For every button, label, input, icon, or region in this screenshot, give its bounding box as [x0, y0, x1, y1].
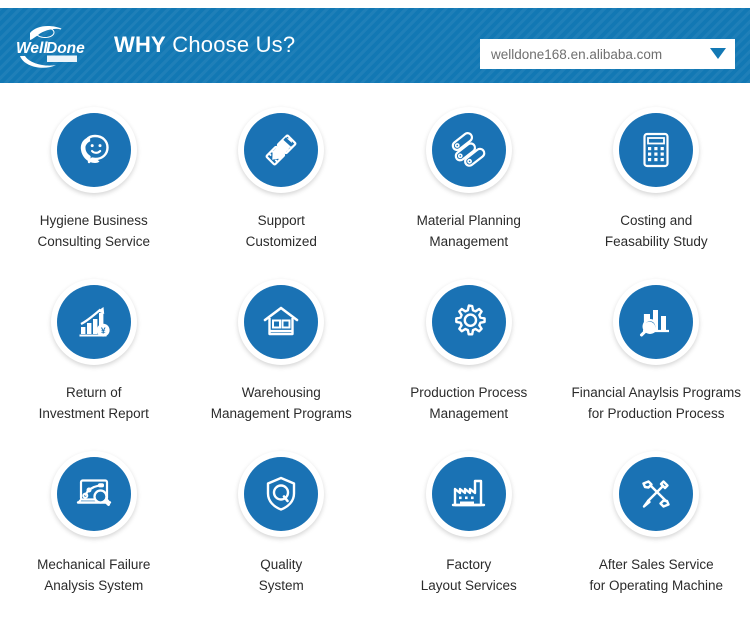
service-card-label-line2: for Operating Machine: [589, 575, 723, 596]
service-card-label: Quality System: [259, 554, 304, 596]
service-card-mechanical-failure-analysis-system[interactable]: Mechanical Failure Analysis System: [0, 435, 188, 607]
service-card-label-line1: Hygiene Business: [40, 213, 148, 228]
service-card-label: Production Process Management: [410, 382, 527, 424]
laptop-robotarm-magnifier-icon: [57, 457, 131, 531]
service-card-factory-layout-services[interactable]: Factory Layout Services: [375, 435, 563, 607]
service-card-financial-anaylsis-programs[interactable]: Financial Anaylsis Programs for Producti…: [563, 263, 750, 435]
services-grid: Hygiene Business Consulting Service: [0, 91, 750, 607]
factory-icon: [432, 457, 506, 531]
chart-magnifier-icon: [619, 285, 693, 359]
phone-smiley-icon: [57, 113, 131, 187]
icon-badge: [238, 279, 324, 365]
why-choose-us-page: Well Done WHY Choose Us? welldone168.en.…: [0, 0, 750, 624]
service-card-return-of-investment-report[interactable]: ¥ Return of Investment Report: [0, 263, 188, 435]
service-card-label-line1: Return of: [66, 385, 122, 400]
stacked-pipes-icon: [432, 113, 506, 187]
chevron-down-icon[interactable]: [701, 39, 735, 69]
pencil-ruler-icon: [244, 113, 318, 187]
icon-badge: [613, 279, 699, 365]
services-row: Mechanical Failure Analysis System Q: [0, 435, 750, 607]
svg-text:Done: Done: [46, 40, 85, 57]
service-card-label-line2: Consulting Service: [37, 231, 150, 252]
icon-badge: [238, 107, 324, 193]
service-card-label-line1: Material Planning: [417, 213, 521, 228]
service-card-quality-system[interactable]: Quality System: [188, 435, 376, 607]
service-card-costing-and-feasability-study[interactable]: Costing and Feasability Study: [563, 91, 750, 263]
service-card-label-line1: Quality: [260, 557, 302, 572]
service-card-label-line2: Investment Report: [39, 403, 149, 424]
service-card-label-line1: Warehousing: [242, 385, 321, 400]
services-row: ¥ Return of Investment Report: [0, 263, 750, 435]
service-card-hygiene-business-consulting-service[interactable]: Hygiene Business Consulting Service: [0, 91, 188, 263]
banner-title: WHY Choose Us?: [114, 32, 295, 58]
service-card-label-line1: Mechanical Failure: [37, 557, 150, 572]
service-card-label: Factory Layout Services: [421, 554, 517, 596]
service-card-label-line2: Management: [410, 403, 527, 424]
growth-chart-yen-icon: ¥: [57, 285, 131, 359]
service-card-label-line2: Analysis System: [37, 575, 150, 596]
services-row: Hygiene Business Consulting Service: [0, 91, 750, 263]
service-card-label-line2: Layout Services: [421, 575, 517, 596]
service-card-label: After Sales Service for Operating Machin…: [589, 554, 723, 596]
service-card-material-planning-management[interactable]: Material Planning Management: [375, 91, 563, 263]
svg-text:¥: ¥: [101, 326, 106, 336]
service-card-after-sales-service[interactable]: After Sales Service for Operating Machin…: [563, 435, 750, 607]
service-card-support-customized[interactable]: Support Customized: [188, 91, 376, 263]
service-card-label: Costing and Feasability Study: [605, 210, 708, 252]
service-card-label-line1: Costing and: [620, 213, 692, 228]
url-dropdown[interactable]: welldone168.en.alibaba.com: [480, 39, 735, 69]
service-card-label: Warehousing Management Programs: [211, 382, 352, 424]
wrench-screwdriver-icon: [619, 457, 693, 531]
welldone-logo[interactable]: Well Done: [14, 20, 100, 72]
icon-badge: [426, 279, 512, 365]
service-card-label: Hygiene Business Consulting Service: [37, 210, 150, 252]
service-card-label-line2: Management: [417, 231, 521, 252]
service-card-label-line1: After Sales Service: [599, 557, 714, 572]
service-card-label: Material Planning Management: [417, 210, 521, 252]
gear-icon: [432, 285, 506, 359]
icon-badge: [613, 107, 699, 193]
warehouse-boxes-icon: [244, 285, 318, 359]
calculator-icon: [619, 113, 693, 187]
icon-badge: [51, 451, 137, 537]
service-card-label-line1: Production Process: [410, 385, 527, 400]
service-card-label: Financial Anaylsis Programs for Producti…: [571, 382, 741, 424]
service-card-label: Mechanical Failure Analysis System: [37, 554, 150, 596]
service-card-label-line1: Financial Anaylsis Programs: [571, 385, 741, 400]
service-card-label: Return of Investment Report: [39, 382, 149, 424]
service-card-label-line1: Support: [258, 213, 305, 228]
service-card-label-line1: Factory: [446, 557, 491, 572]
url-text[interactable]: welldone168.en.alibaba.com: [480, 47, 701, 62]
svg-text:Well: Well: [16, 40, 48, 57]
banner-title-bold: WHY: [114, 32, 166, 57]
service-card-label-line2: Customized: [246, 231, 317, 252]
service-card-production-process-management[interactable]: Production Process Management: [375, 263, 563, 435]
banner-title-rest: Choose Us?: [172, 32, 295, 57]
icon-badge: ¥: [51, 279, 137, 365]
shield-q-icon: [244, 457, 318, 531]
service-card-warehousing-management-programs[interactable]: Warehousing Management Programs: [188, 263, 376, 435]
service-card-label-line2: System: [259, 575, 304, 596]
icon-badge: [238, 451, 324, 537]
icon-badge: [426, 451, 512, 537]
service-card-label: Support Customized: [246, 210, 317, 252]
icon-badge: [426, 107, 512, 193]
service-card-label-line2: Management Programs: [211, 403, 352, 424]
icon-badge: [613, 451, 699, 537]
service-card-label-line2: for Production Process: [571, 403, 741, 424]
header-banner: Well Done WHY Choose Us? welldone168.en.…: [0, 8, 750, 83]
service-card-label-line2: Feasability Study: [605, 231, 708, 252]
icon-badge: [51, 107, 137, 193]
